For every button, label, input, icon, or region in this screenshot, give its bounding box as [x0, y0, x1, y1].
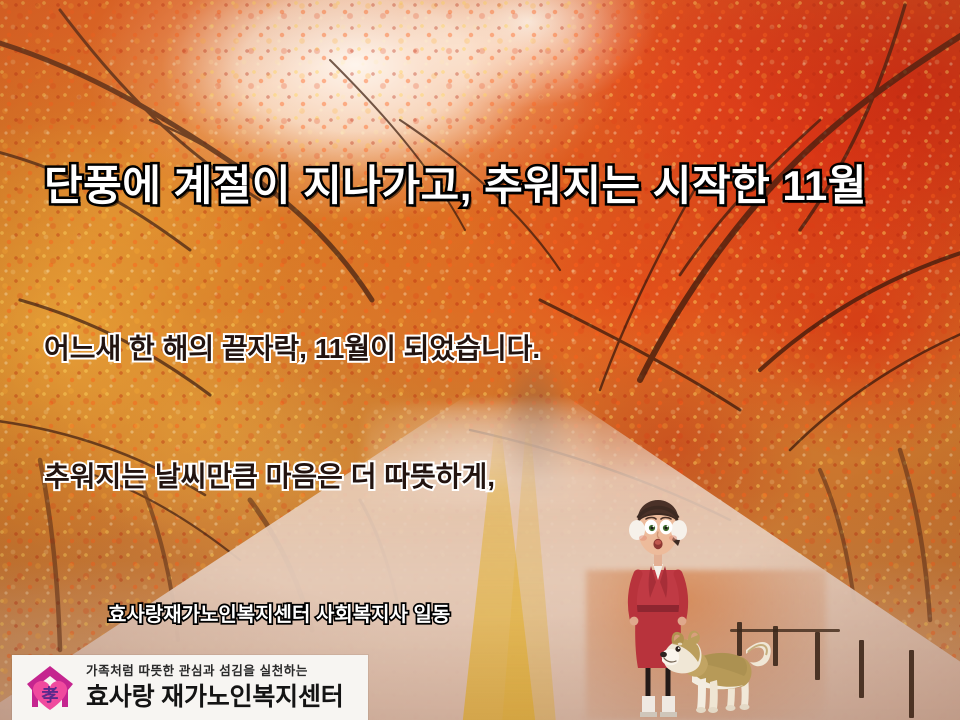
hyo-character: 孝 — [42, 685, 59, 706]
shiba-inu-dog-figure — [658, 616, 776, 714]
page-title: 단풍에 계절이 지나가고, 추워지는 시작한 11월 — [44, 152, 867, 213]
message-body: 어느새 한 해의 끝자락, 11월이 되었습니다. 추워지는 날씨만큼 마음은 … — [44, 243, 547, 720]
house-heart-hyo-logo-icon: 孝 — [22, 660, 78, 716]
logo-tagline: 가족처럼 따뜻한 관심과 섬김을 실천하는 — [86, 665, 344, 678]
logo-organization-name: 효사랑 재가노인복지센터 — [86, 685, 344, 710]
logo-text-group: 가족처럼 따뜻한 관심과 섬김을 실천하는 효사랑 재가노인복지센터 — [86, 665, 344, 710]
signature-line: 효사랑재가노인복지센터 사회복지사 일동 — [108, 598, 450, 627]
message-line-2: 추워지는 날씨만큼 마음은 더 따뜻하게, — [44, 456, 547, 499]
message-line-1: 어느새 한 해의 끝자락, 11월이 되었습니다. — [44, 328, 547, 371]
organization-logo-bar: 孝 가족처럼 따뜻한 관심과 섬김을 실천하는 효사랑 재가노인복지센터 — [12, 655, 368, 720]
poster-canvas: 단풍에 계절이 지나가고, 추워지는 시작한 11월 어느새 한 해의 끝자락,… — [0, 0, 960, 720]
